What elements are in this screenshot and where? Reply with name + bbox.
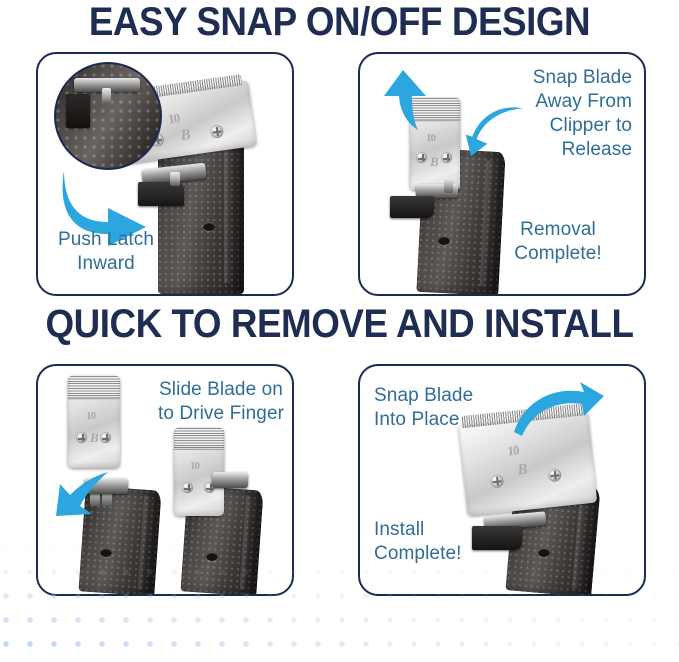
clipper-body-hole (206, 552, 218, 561)
blade-screw-left (182, 482, 193, 493)
latch-detail-finger (102, 88, 111, 104)
panel-push-latch: 10 B Push Latch Inward (36, 52, 294, 296)
blade-screw-right (100, 432, 111, 443)
latch-detail-inset (54, 62, 162, 170)
blade-teeth (174, 428, 224, 450)
panel-slide-blade: 10 B 10 Slide Blade on to Drive Finger (36, 364, 294, 596)
panel-snap-blade-away: 10 B Snap Blade Away From Clipper to Rel… (358, 52, 646, 296)
caption-removal-complete: Removal Complete! (478, 218, 638, 266)
caption-push-latch-inward: Push Latch Inward (46, 228, 166, 276)
blade-brand-engraving: B (180, 127, 191, 145)
clipper-body-hole (203, 222, 215, 231)
blade-brand-engraving: B (430, 154, 438, 170)
blade-screw-left (490, 474, 504, 488)
clipper-latch (212, 472, 248, 488)
panel-snap-into-place: 10 B Snap Blade Into Place Install Compl… (358, 364, 646, 596)
clipper-blade-separated: 10 B (68, 376, 120, 468)
drive-finger (170, 172, 180, 186)
curved-arrow-right-icon (510, 382, 606, 446)
blade-screw-left (416, 152, 427, 163)
latch-detail-arm (66, 94, 90, 128)
page-title-top: EASY SNAP ON/OFF DESIGN (27, 2, 652, 42)
blade-screw-right (210, 124, 225, 139)
caption-snap-into-place: Snap Blade Into Place (374, 384, 514, 432)
clipper-body-hole (538, 548, 550, 557)
blade-brand-engraving: B (517, 462, 528, 480)
arrow-down-left-icon (50, 464, 116, 530)
page-title-middle: QUICK TO REMOVE AND INSTALL (27, 304, 652, 344)
clipper-latch-arm (390, 196, 434, 218)
caption-snap-blade-away: Snap Blade Away From Clipper to Release (472, 66, 632, 162)
drive-finger (444, 178, 453, 193)
blade-screw-right (441, 152, 452, 163)
clipper-body-hole (438, 236, 450, 245)
blade-teeth (68, 376, 120, 400)
blade-size-engraving: 10 (86, 410, 95, 422)
blade-size-engraving: 10 (167, 110, 180, 127)
caption-slide-blade: Slide Blade on to Drive Finger (146, 378, 294, 426)
arrow-up-icon (378, 68, 428, 134)
clipper-body-hole (100, 548, 112, 557)
blade-size-engraving: 10 (190, 460, 199, 472)
caption-install-complete: Install Complete! (374, 518, 524, 566)
blade-screw-left (76, 432, 87, 443)
blade-screw-right (548, 468, 562, 482)
blade-brand-engraving: B (90, 430, 98, 446)
